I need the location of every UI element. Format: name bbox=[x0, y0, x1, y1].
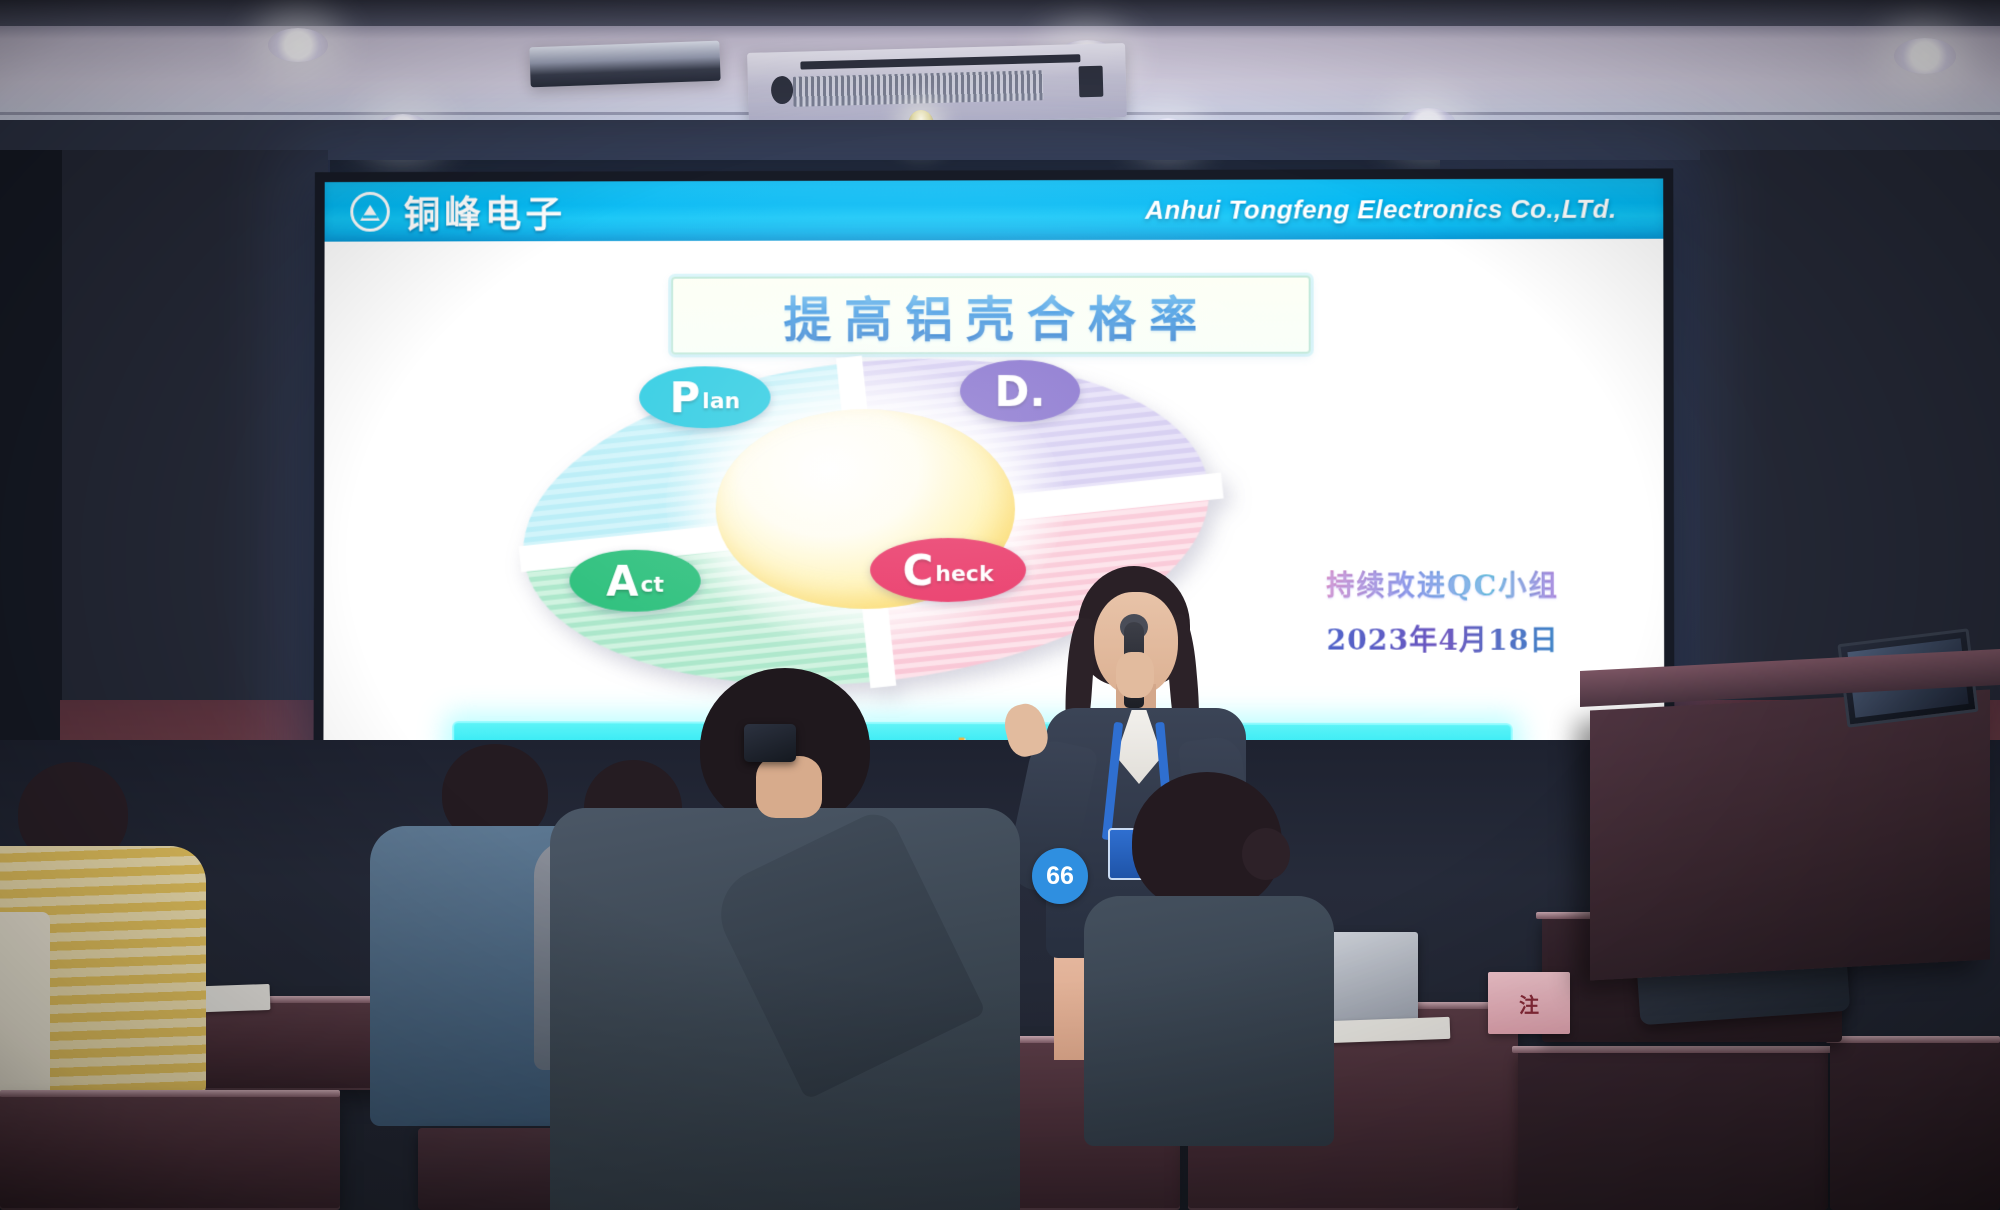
pdca-check-initial: C bbox=[902, 545, 933, 594]
ceiling-shadow-strip bbox=[0, 0, 2000, 26]
desk-edge bbox=[0, 1090, 340, 1097]
audience-member-foreground bbox=[560, 668, 1160, 1210]
lectern bbox=[1590, 690, 1990, 981]
phone-camera-icon bbox=[744, 724, 796, 762]
slide-header-banner: 铜峰电子 Anhui Tongfeng Electronics Co.,LTd. bbox=[325, 178, 1664, 241]
pdca-act-suffix: ct bbox=[640, 573, 663, 598]
vent-slot bbox=[800, 55, 1080, 70]
vent-round-slot bbox=[770, 75, 793, 104]
desk-name-card: 注 bbox=[1488, 972, 1570, 1034]
pdca-label-plan: P lan bbox=[639, 366, 770, 428]
page-title: 提高铝壳合格率 bbox=[771, 280, 1211, 351]
pdca-do-initial: D bbox=[995, 367, 1030, 416]
company-name-cn: 铜峰电子 bbox=[404, 184, 566, 238]
slide-title-box: 提高铝壳合格率 bbox=[671, 276, 1311, 355]
pdca-label-check: C heck bbox=[870, 538, 1026, 602]
pdca-plan-initial: P bbox=[670, 373, 701, 422]
qc-team-name: 持续改进QC小组 bbox=[1326, 564, 1559, 604]
audience-member bbox=[0, 762, 250, 1122]
chair-edge bbox=[1826, 1036, 2000, 1043]
slide-meta-block: 持续改进QC小组 2023年4月18日 bbox=[1326, 564, 1559, 659]
pdca-do-suffix: . bbox=[1029, 366, 1045, 415]
pdca-label-do: D . bbox=[960, 360, 1080, 422]
pdca-plan-suffix: lan bbox=[702, 389, 740, 414]
audience-hair-bun bbox=[1242, 828, 1290, 880]
screenshot-scene: 铜峰电子 Anhui Tongfeng Electronics Co.,LTd.… bbox=[0, 0, 2000, 1210]
pdca-check-suffix: heck bbox=[935, 562, 993, 587]
ceiling-air-conditioner-vent bbox=[747, 43, 1127, 127]
recessed-downlight-icon bbox=[1894, 38, 1956, 74]
tongfeng-triangle-circle-logo bbox=[350, 192, 390, 232]
audience-chair bbox=[1518, 1050, 1828, 1210]
vent-side-slot bbox=[1079, 66, 1104, 98]
pdca-act-initial: A bbox=[606, 556, 638, 605]
vent-grille bbox=[793, 70, 1043, 106]
wall-left-edge bbox=[0, 150, 62, 750]
pdca-label-act: A ct bbox=[569, 550, 700, 612]
recessed-downlight-icon bbox=[268, 28, 328, 62]
chair-edge bbox=[1512, 1046, 1834, 1053]
audience-chair-cushion bbox=[0, 912, 50, 1102]
audience-desk bbox=[0, 1094, 340, 1210]
audience-chair bbox=[1830, 1040, 2000, 1210]
company-name-en: Anhui Tongfeng Electronics Co.,LTd. bbox=[1145, 193, 1637, 225]
audience-raised-hand bbox=[756, 756, 822, 818]
ceiling-vent-slot-icon bbox=[529, 41, 720, 88]
presentation-date: 2023年4月18日 bbox=[1326, 618, 1559, 658]
wall-left-panel bbox=[58, 150, 328, 710]
